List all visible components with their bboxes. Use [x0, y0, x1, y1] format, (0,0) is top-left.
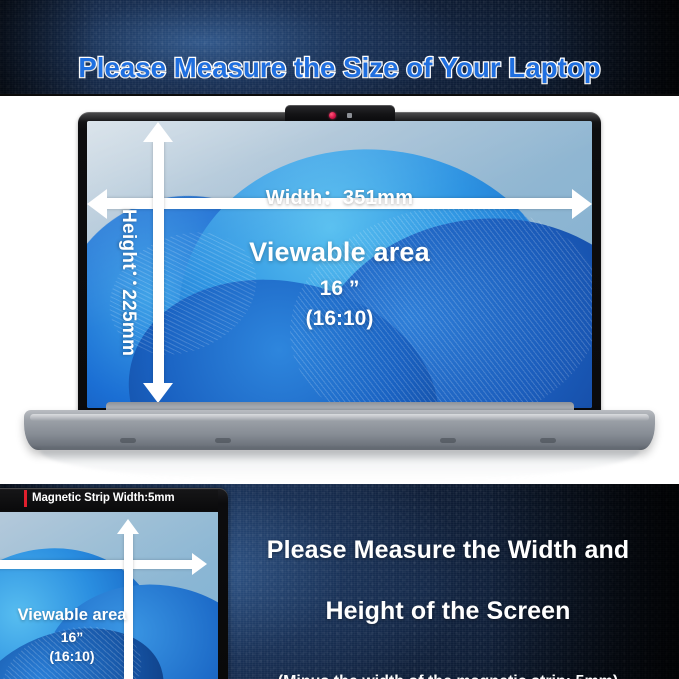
- bottom-heading-line1: Please Measure the Width and: [228, 535, 668, 566]
- height-arrow-head-bottom: [143, 383, 173, 403]
- laptop-foot-left: [120, 438, 136, 443]
- mini-height-arrow-head-top: [117, 519, 139, 534]
- header-title-line1: Please Measure the Size of Your Laptop: [0, 50, 679, 85]
- mini-viewable-area-title: Viewable area: [0, 606, 172, 625]
- mini-laptop-lid: Viewable area 16” (16:10) Magnetic Strip…: [0, 488, 228, 679]
- infographic-page: Please Measure the Size of Your Laptop B…: [0, 0, 679, 679]
- viewable-area-title: Viewable area: [87, 237, 592, 268]
- bottom-note-magnetic: (Minus the width of the magnetic strip: …: [228, 673, 668, 679]
- bottom-heading-line2: Height of the Screen: [228, 596, 668, 627]
- mini-width-arrow-head-right: [192, 553, 207, 575]
- header-banner: Please Measure the Size of Your Laptop B…: [0, 0, 679, 94]
- laptop-reflection: [40, 450, 640, 480]
- bottom-copy-block: Please Measure the Width and Height of t…: [228, 504, 668, 679]
- viewable-area-size: 16 ”: [87, 277, 592, 301]
- bottom-instruction-panel: Viewable area 16” (16:10) Magnetic Strip…: [0, 484, 679, 679]
- camera-sensor-icon: [347, 113, 352, 118]
- magnetic-strip-marker-icon: [24, 490, 27, 507]
- mini-viewable-area-ratio: (16:10): [0, 648, 172, 664]
- mini-width-arrow-shaft: [0, 560, 194, 569]
- panel-divider-top: [0, 94, 679, 96]
- laptop-foot-center-right: [440, 438, 456, 443]
- bottom-heading: Please Measure the Width and Height of t…: [228, 504, 668, 657]
- laptop-screen: Width：351mm Height：225mm Viewable area 1…: [87, 121, 592, 408]
- camera-lens-icon: [329, 112, 336, 119]
- viewable-area-ratio: (16:10): [87, 307, 592, 331]
- width-measurement-label: Width：351mm: [87, 181, 592, 210]
- mini-viewable-area-callout: Viewable area 16” (16:10): [0, 606, 172, 664]
- magnetic-strip-label: Magnetic Strip Width:5mm: [32, 490, 175, 507]
- laptop-lid: Width：351mm Height：225mm Viewable area 1…: [78, 112, 601, 417]
- laptop-base-highlight: [30, 414, 649, 421]
- mini-viewable-area-size: 16”: [0, 629, 172, 645]
- mini-laptop-screen: Viewable area 16” (16:10): [0, 512, 218, 679]
- laptop-illustration-panel: Width：351mm Height：225mm Viewable area 1…: [0, 94, 679, 484]
- laptop-foot-right: [540, 438, 556, 443]
- height-arrow-head-top: [143, 122, 173, 142]
- webcam-notch: [285, 105, 395, 121]
- viewable-area-callout: Viewable area 16 ” (16:10): [87, 237, 592, 331]
- laptop-foot-center-left: [215, 438, 231, 443]
- header-title: Please Measure the Size of Your Laptop B…: [0, 15, 679, 94]
